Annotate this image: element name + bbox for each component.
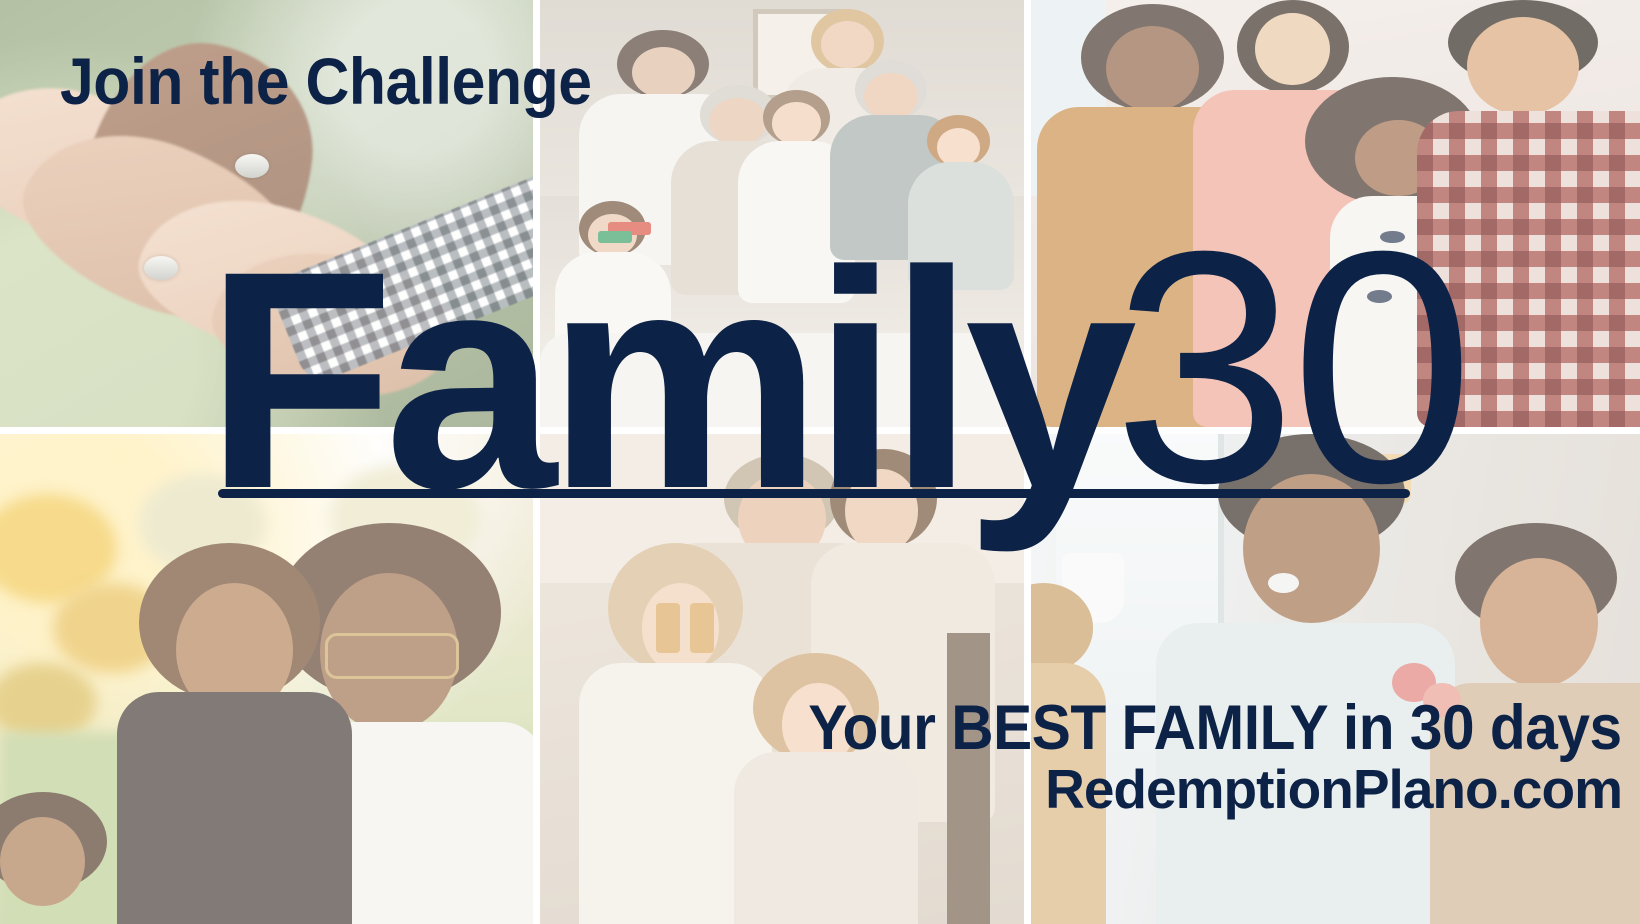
wordmark-underline-rule xyxy=(218,489,1410,498)
family30-promo-poster: Join the Challenge Family30 Your BEST FA… xyxy=(0,0,1640,924)
wordmark-thirty-text: 30 xyxy=(1113,202,1468,532)
tagline-best-family: Your BEST FAMILY in 30 days xyxy=(809,697,1622,760)
kicker-join-the-challenge: Join the Challenge xyxy=(60,48,592,114)
website-url[interactable]: RedemptionPlano.com xyxy=(1045,762,1622,817)
